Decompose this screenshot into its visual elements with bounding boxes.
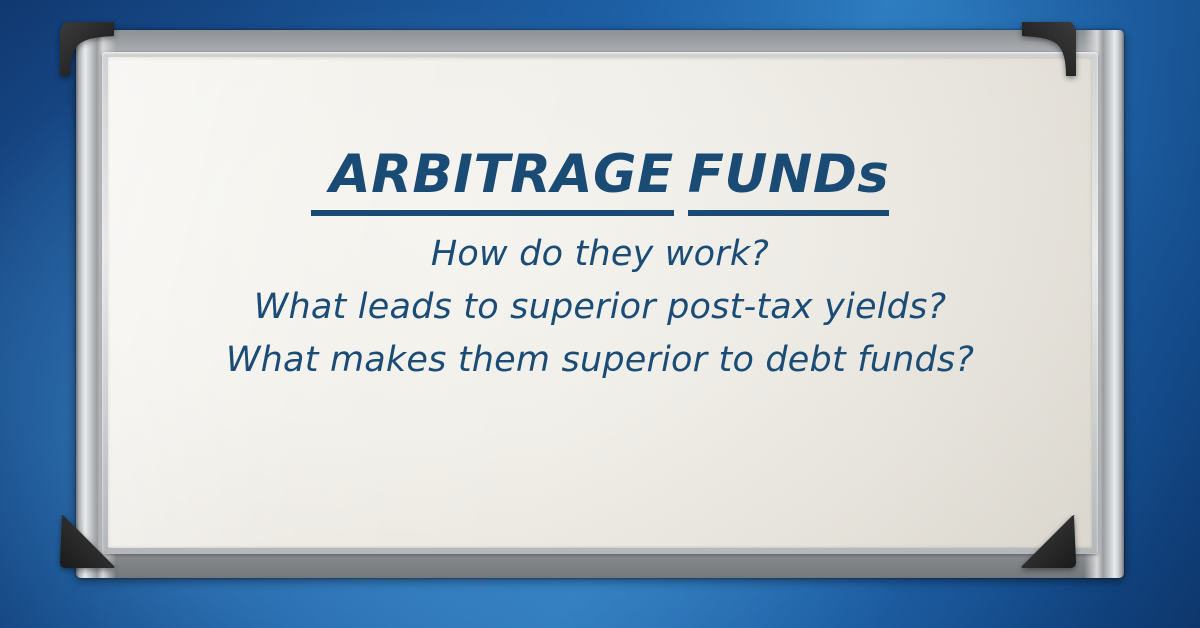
- subtitle-block: How do they work? What leads to superior…: [76, 228, 1124, 388]
- corner-bracket-top-right-icon: [1018, 18, 1080, 80]
- title-word-arbitrage-text: ARBITRAGE: [311, 144, 674, 216]
- subtitle-line-2: What leads to superior post-tax yields?: [76, 281, 1124, 334]
- title-word-arbitrage: ARBITRAGE: [311, 148, 674, 202]
- corner-bracket-top-left-icon: [56, 18, 118, 80]
- corner-bracket-bottom-right-icon: [1018, 510, 1080, 572]
- page-title: ARBITRAGEFUNDs: [76, 148, 1124, 202]
- corner-bracket-bottom-left-icon: [56, 510, 118, 572]
- poster-canvas: ARBITRAGEFUNDs How do they work? What le…: [0, 0, 1200, 628]
- whiteboard: ARBITRAGEFUNDs How do they work? What le…: [76, 30, 1124, 578]
- subtitle-line-1: How do they work?: [76, 228, 1124, 281]
- title-word-funds: FUNDs: [688, 148, 890, 202]
- title-word-funds-text: FUNDs: [688, 144, 890, 216]
- subtitle-line-3: What makes them superior to debt funds?: [76, 334, 1124, 387]
- whiteboard-content: ARBITRAGEFUNDs How do they work? What le…: [76, 148, 1124, 388]
